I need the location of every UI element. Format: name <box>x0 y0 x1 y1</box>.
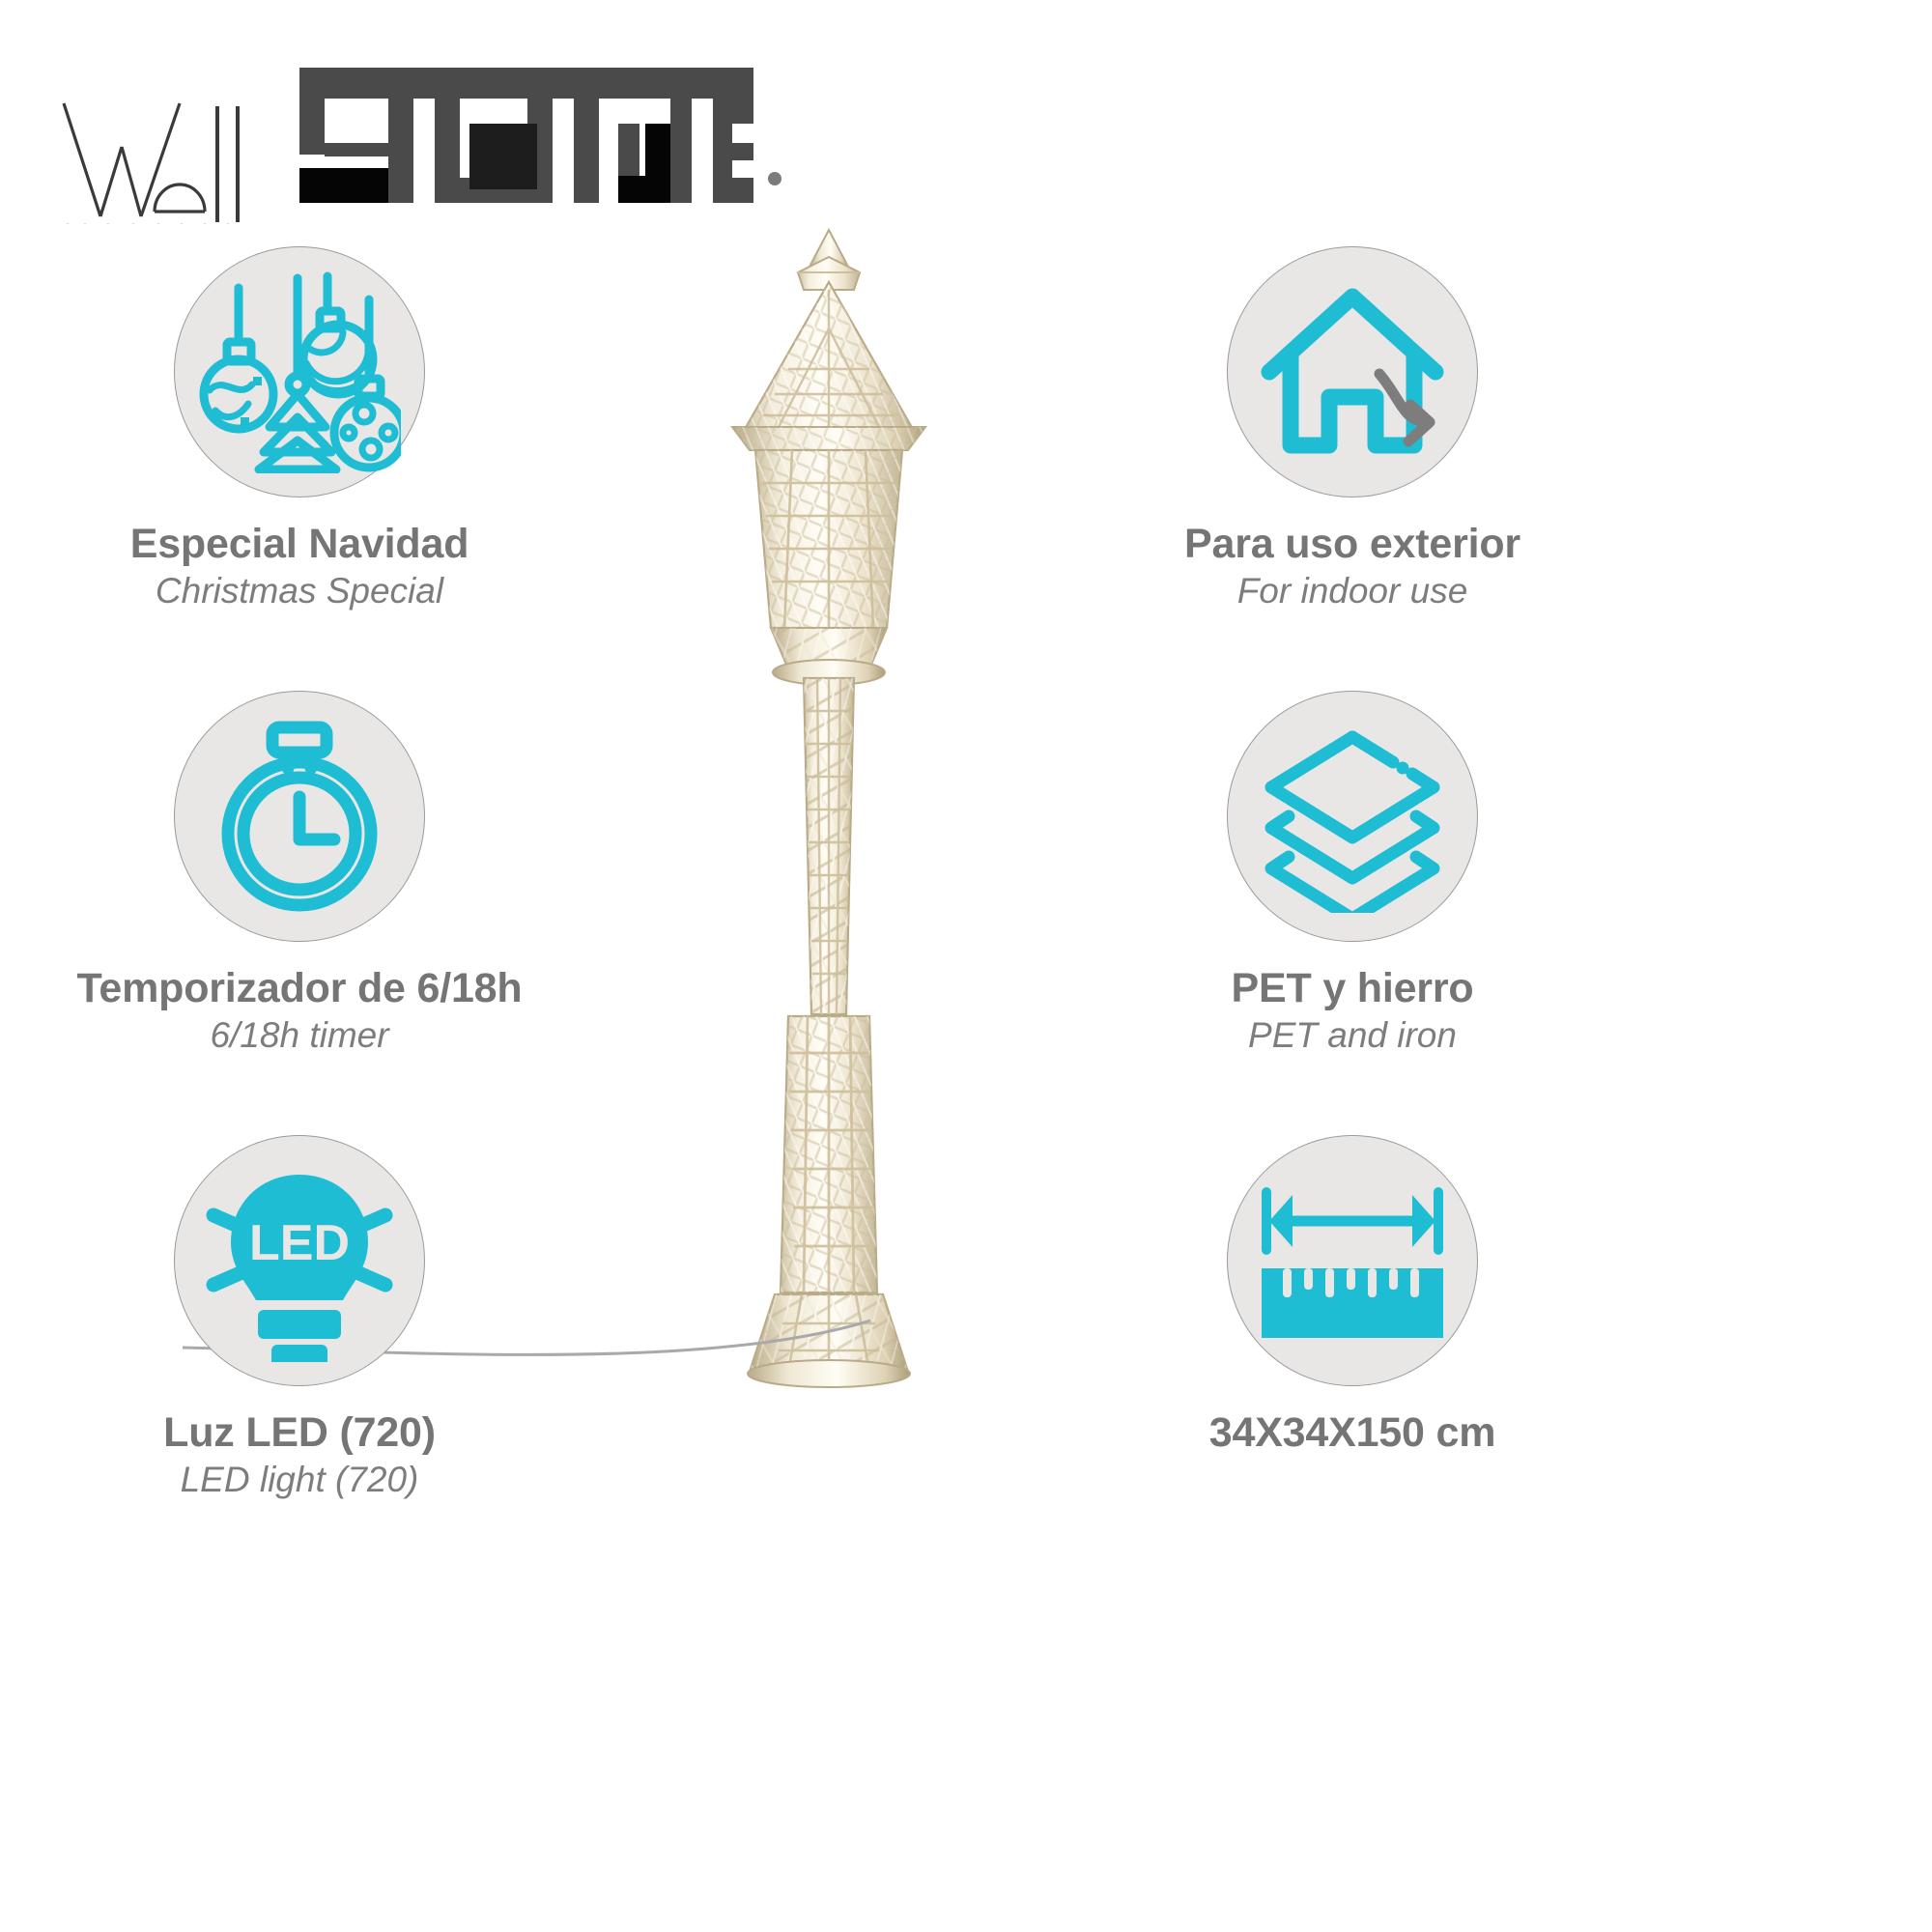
ruler-measure-icon <box>1227 1135 1478 1386</box>
feature-title: Especial Navidad <box>29 523 570 566</box>
feature-outdoor-use: Para uso exterior For indoor use <box>1082 246 1623 611</box>
christmas-ornaments-icon <box>174 246 425 497</box>
feature-subtitle: LED light (720) <box>29 1462 570 1499</box>
logo-home-wordmark <box>299 68 753 203</box>
stopwatch-timer-icon <box>174 691 425 942</box>
layers-icon <box>1227 691 1478 942</box>
logo-accent-dot <box>768 172 781 185</box>
feature-title: PET y hierro <box>1082 967 1623 1010</box>
feature-subtitle: 6/18h timer <box>29 1017 570 1055</box>
feature-timer: Temporizador de 6/18h 6/18h timer <box>29 691 570 1055</box>
led-badge-label: LED <box>249 1215 350 1271</box>
feature-title: Para uso exterior <box>1082 523 1623 566</box>
infographic-page: Especial Navidad Christmas Special Para … <box>0 0 1932 1932</box>
product-image-wicker-lamp-post <box>618 222 1043 1430</box>
feature-led: LED Luz LED (720) LED light (720) <box>29 1135 570 1499</box>
feature-material: PET y hierro PET and iron <box>1082 691 1623 1055</box>
feature-title: Luz LED (720) <box>29 1411 570 1455</box>
house-arrow-icon <box>1227 246 1478 497</box>
led-bulb-icon: LED <box>174 1135 425 1386</box>
logo-well-mark <box>58 79 319 224</box>
feature-subtitle: Christmas Special <box>29 573 570 611</box>
feature-christmas: Especial Navidad Christmas Special <box>29 246 570 611</box>
feature-subtitle: PET and iron <box>1082 1017 1623 1055</box>
feature-title: Temporizador de 6/18h <box>29 967 570 1010</box>
feature-dimensions: 34X34X150 cm <box>1082 1135 1623 1462</box>
brand-logo <box>58 68 792 222</box>
feature-subtitle: For indoor use <box>1082 573 1623 611</box>
feature-title: 34X34X150 cm <box>1082 1411 1623 1455</box>
